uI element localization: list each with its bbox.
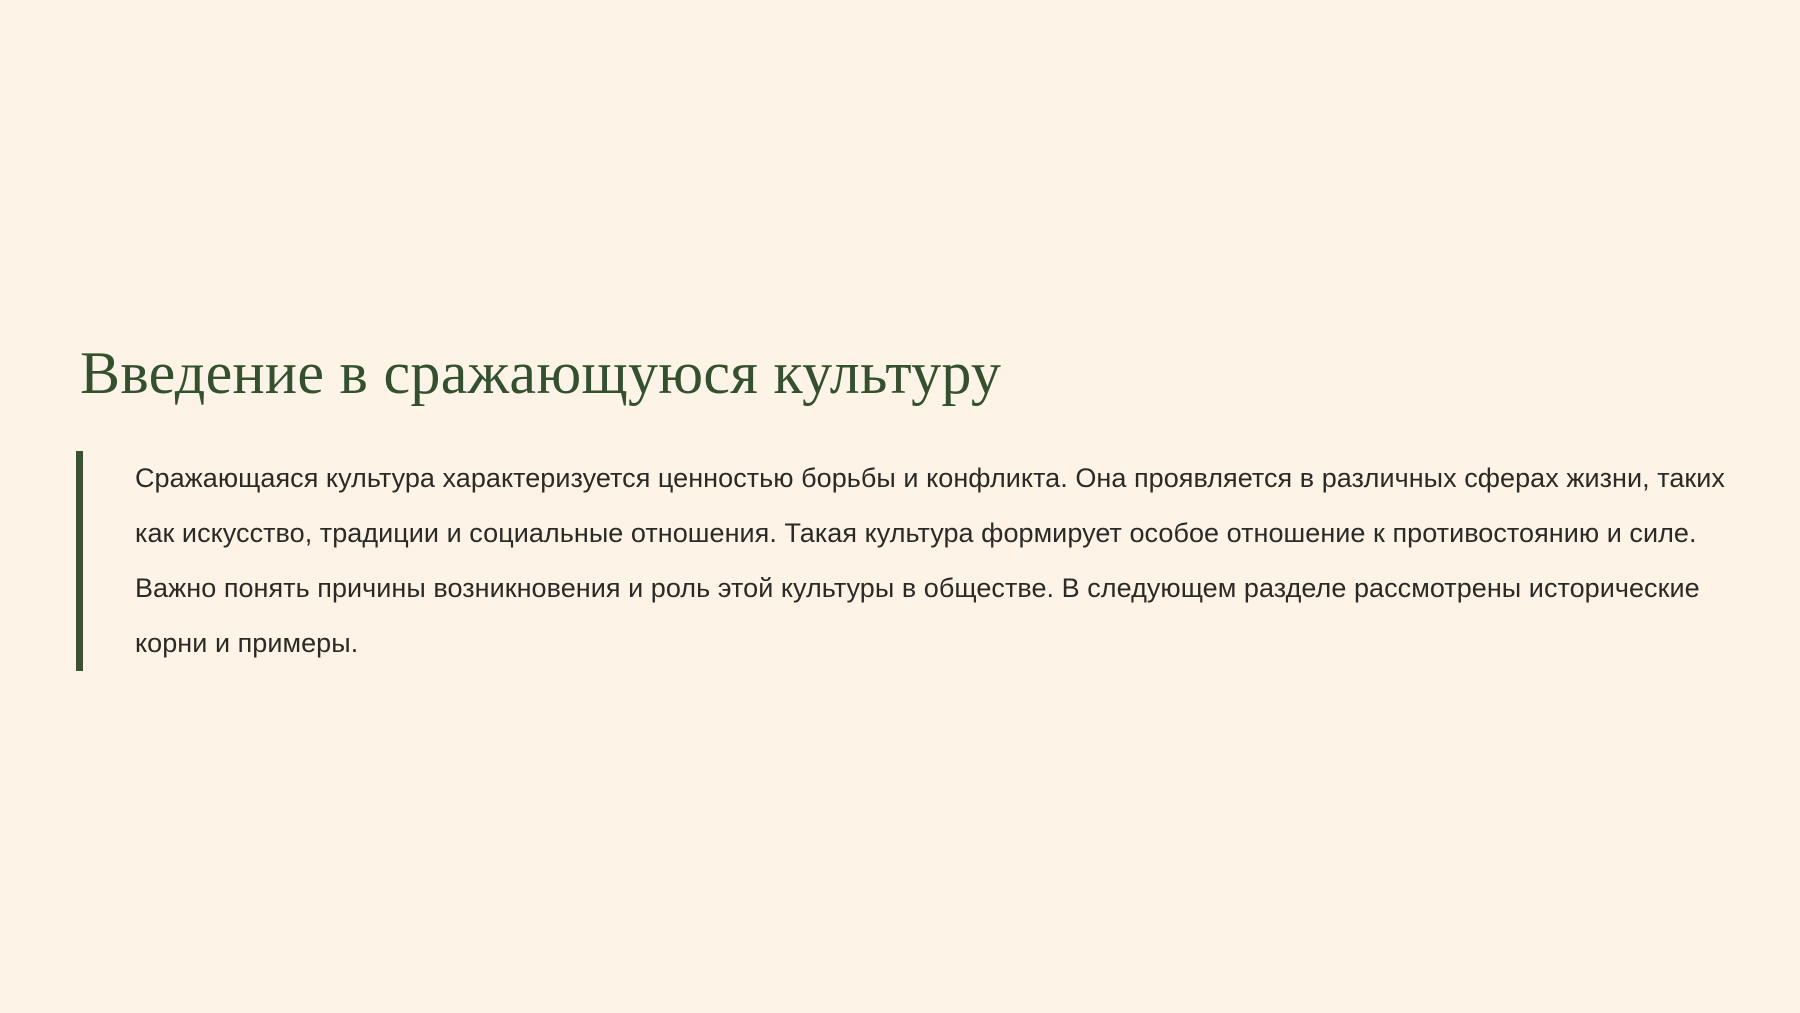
slide-content: Введение в сражающуюся культуру Сражающа…	[76, 340, 1766, 671]
slide-canvas: Введение в сражающуюся культуру Сражающа…	[0, 0, 1800, 1013]
page-title: Введение в сражающуюся культуру	[80, 340, 1766, 407]
callout-paragraph: Сражающаяся культура характеризуется цен…	[135, 451, 1755, 671]
callout-block: Сражающаяся культура характеризуется цен…	[76, 451, 1766, 671]
